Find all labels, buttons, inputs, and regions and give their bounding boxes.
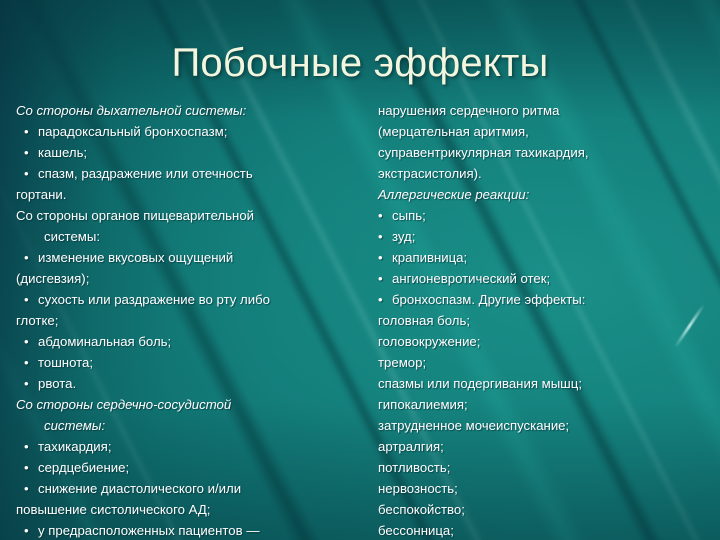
bullet-icon: •	[378, 247, 392, 268]
text-line: системы:	[16, 415, 364, 436]
bullet-icon: •	[24, 331, 38, 352]
bullet-text: рвота.	[38, 376, 76, 391]
bullet-text: зуд;	[392, 229, 415, 244]
text-line: нарушения сердечного ритма	[378, 100, 708, 121]
text-line: •рвота.	[16, 373, 364, 394]
text-line: артралгия;	[378, 436, 708, 457]
bullet-icon: •	[378, 205, 392, 226]
text-line: •тошнота;	[16, 352, 364, 373]
bullet-text: изменение вкусовых ощущений	[38, 250, 233, 265]
text-line: экстрасистолия).	[378, 163, 708, 184]
bullet-icon: •	[24, 142, 38, 163]
text-line: •спазм, раздражение или отечность	[16, 163, 364, 184]
bullet-text: тошнота;	[38, 355, 93, 370]
text-line: нервозность;	[378, 478, 708, 499]
bullet-text: парадоксальный бронхоспазм;	[38, 124, 227, 139]
text-line: •ангионевротический отек;	[378, 268, 708, 289]
text-line: •зуд;	[378, 226, 708, 247]
bullet-text: у предрасположенных пациентов —	[38, 523, 260, 538]
right-text-column: нарушения сердечного ритма(мерцательная …	[378, 100, 708, 540]
bullet-icon: •	[24, 478, 38, 499]
text-line: головная боль;	[378, 310, 708, 331]
text-line: бессонница;	[378, 520, 708, 540]
text-line: (мерцательная аритмия,	[378, 121, 708, 142]
bullet-text: крапивница;	[392, 250, 467, 265]
text-line: •абдоминальная боль;	[16, 331, 364, 352]
text-line: Со стороны сердечно-сосудистой	[16, 394, 364, 415]
bullet-icon: •	[378, 268, 392, 289]
text-line: •изменение вкусовых ощущений	[16, 247, 364, 268]
text-line: •кашель;	[16, 142, 364, 163]
presentation-slide: Побочные эффекты Со стороны дыхательной …	[0, 0, 720, 540]
bullet-icon: •	[24, 289, 38, 310]
text-line: •сухость или раздражение во рту либо	[16, 289, 364, 310]
slide-title: Побочные эффекты	[0, 40, 720, 86]
bullet-text: абдоминальная боль;	[38, 334, 171, 349]
text-line: •сердцебиение;	[16, 457, 364, 478]
bullet-icon: •	[24, 247, 38, 268]
text-line: •сыпь;	[378, 205, 708, 226]
bullet-icon: •	[24, 121, 38, 142]
bullet-icon: •	[24, 457, 38, 478]
bullet-text: кашель;	[38, 145, 87, 160]
bullet-icon: •	[378, 226, 392, 247]
text-line: затрудненное мочеиспускание;	[378, 415, 708, 436]
text-line: потливость;	[378, 457, 708, 478]
text-line: •снижение диастолического и/или	[16, 478, 364, 499]
bullet-icon: •	[378, 289, 392, 310]
bullet-text: сердцебиение;	[38, 460, 129, 475]
text-line: системы:	[16, 226, 364, 247]
bullet-text: сухость или раздражение во рту либо	[38, 292, 270, 307]
text-line: тремор;	[378, 352, 708, 373]
text-line: суправентрикулярная тахикардия,	[378, 142, 708, 163]
bullet-icon: •	[24, 520, 38, 540]
bullet-icon: •	[24, 373, 38, 394]
bullet-icon: •	[24, 163, 38, 184]
text-line: •тахикардия;	[16, 436, 364, 457]
bullet-text: сыпь;	[392, 208, 426, 223]
text-line: Аллергические реакции:	[378, 184, 708, 205]
text-line: (дисгевзия);	[16, 268, 364, 289]
text-line: гортани.	[16, 184, 364, 205]
text-line: •у предрасположенных пациентов —	[16, 520, 364, 540]
text-line: спазмы или подергивания мышц;	[378, 373, 708, 394]
text-line: •крапивница;	[378, 247, 708, 268]
text-line: Со стороны дыхательной системы:	[16, 100, 364, 121]
text-line: Со стороны органов пищеварительной	[16, 205, 364, 226]
text-line: •бронхоспазм. Другие эффекты:	[378, 289, 708, 310]
left-text-column: Со стороны дыхательной системы:•парадокс…	[16, 100, 364, 540]
text-line: гипокалиемия;	[378, 394, 708, 415]
bullet-text: ангионевротический отек;	[392, 271, 550, 286]
text-line: •парадоксальный бронхоспазм;	[16, 121, 364, 142]
text-line: беспокойство;	[378, 499, 708, 520]
text-line: глотке;	[16, 310, 364, 331]
bullet-text: тахикардия;	[38, 439, 111, 454]
bullet-text: снижение диастолического и/или	[38, 481, 241, 496]
text-line: головокружение;	[378, 331, 708, 352]
bullet-icon: •	[24, 436, 38, 457]
bullet-text: спазм, раздражение или отечность	[38, 166, 253, 181]
bullet-text: бронхоспазм. Другие эффекты:	[392, 292, 585, 307]
bullet-icon: •	[24, 352, 38, 373]
text-line: повышение систолического АД;	[16, 499, 364, 520]
